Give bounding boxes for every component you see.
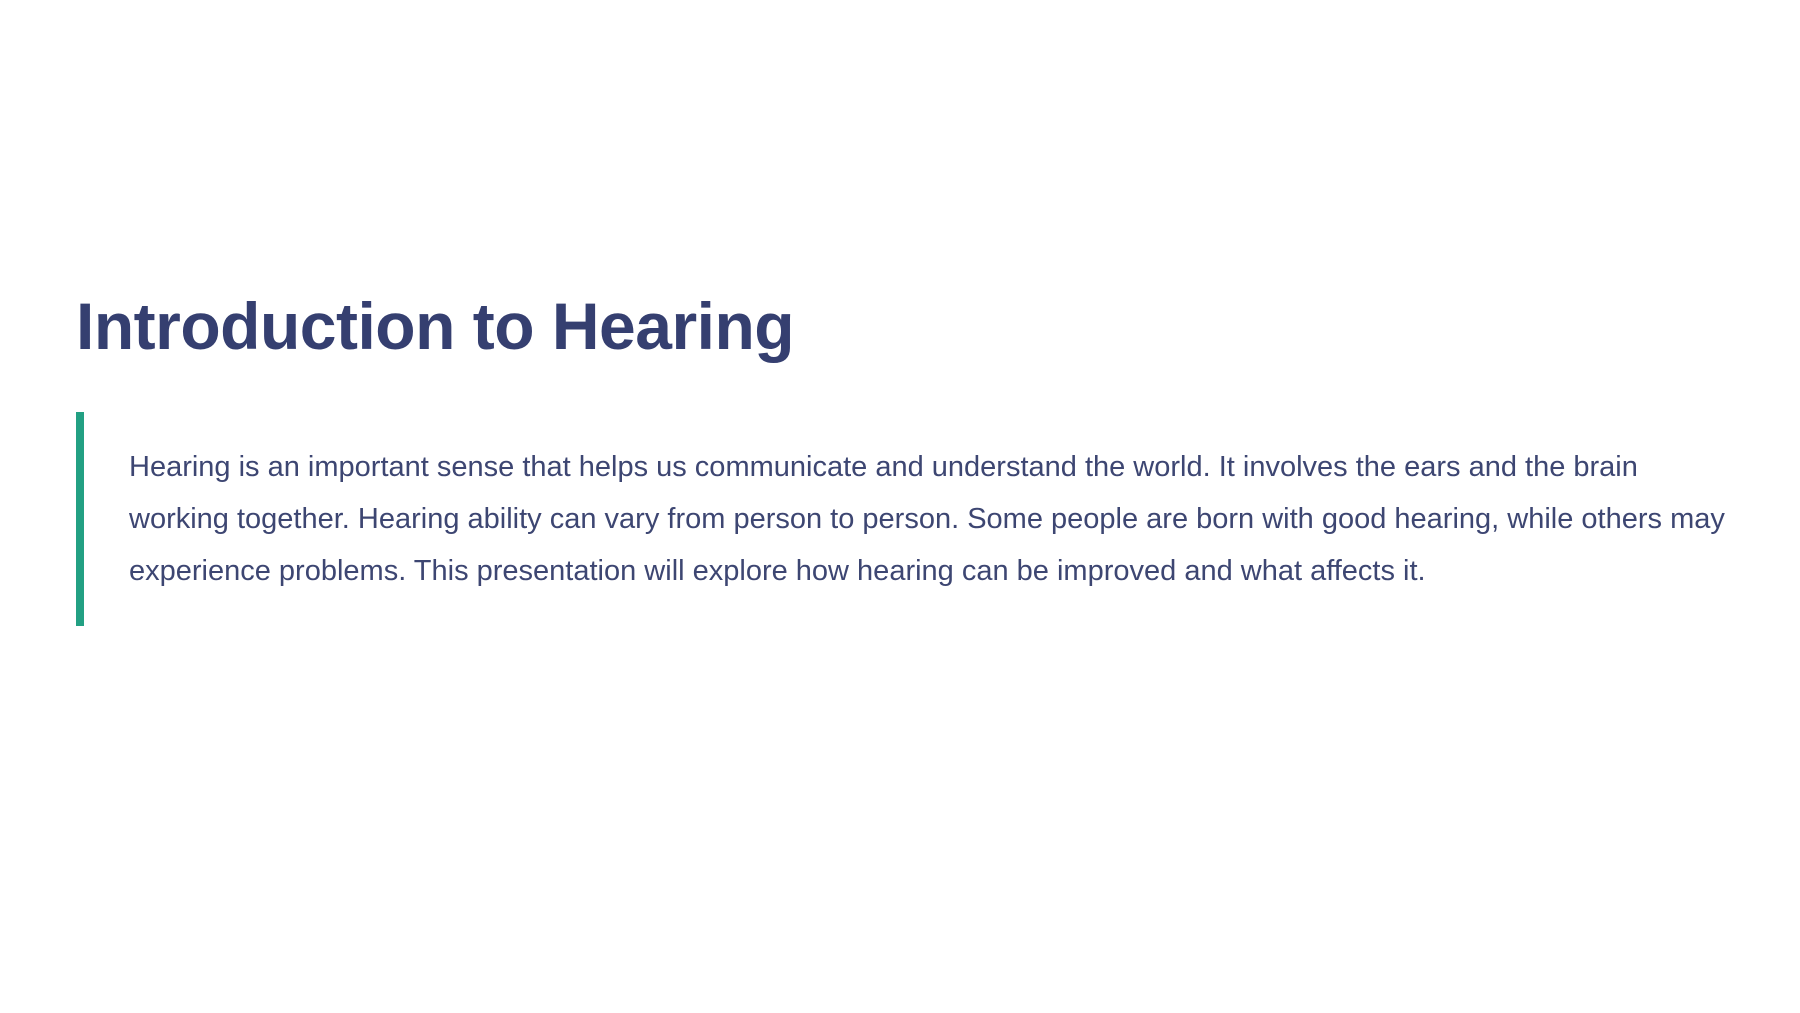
- body-paragraph: Hearing is an important sense that helps…: [84, 441, 1736, 597]
- presentation-slide: Introduction to Hearing Hearing is an im…: [0, 0, 1800, 1013]
- accent-bar: [76, 412, 84, 626]
- slide-content-area: Introduction to Hearing Hearing is an im…: [76, 290, 1736, 626]
- page-title: Introduction to Hearing: [76, 290, 1736, 364]
- body-callout-block: Hearing is an important sense that helps…: [76, 412, 1736, 626]
